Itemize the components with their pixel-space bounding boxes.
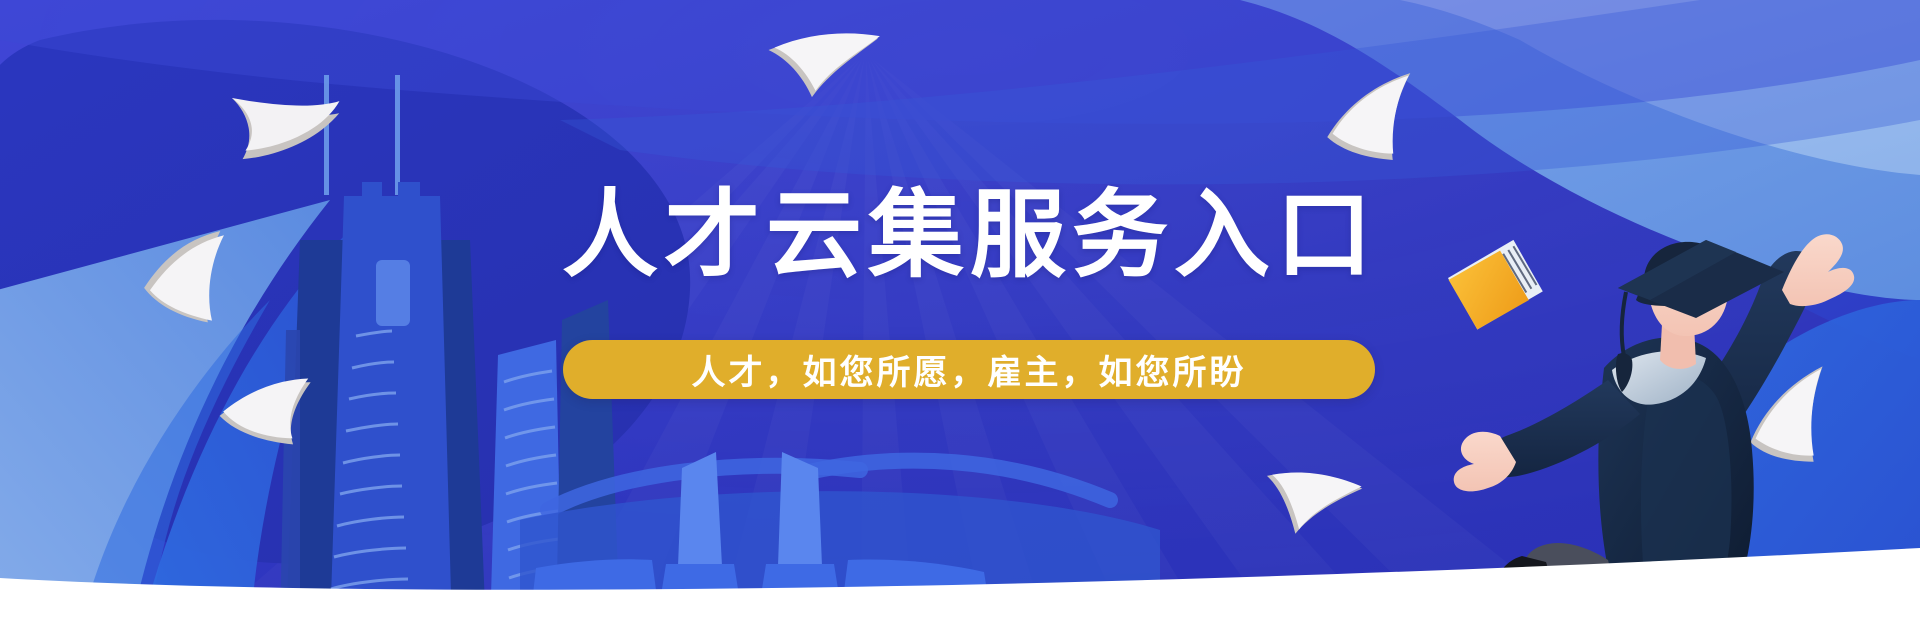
hero-banner: 人才云集服务入口 人才，如您所愿，雇主，如您所盼 [0, 0, 1920, 630]
background-art [0, 0, 1920, 630]
